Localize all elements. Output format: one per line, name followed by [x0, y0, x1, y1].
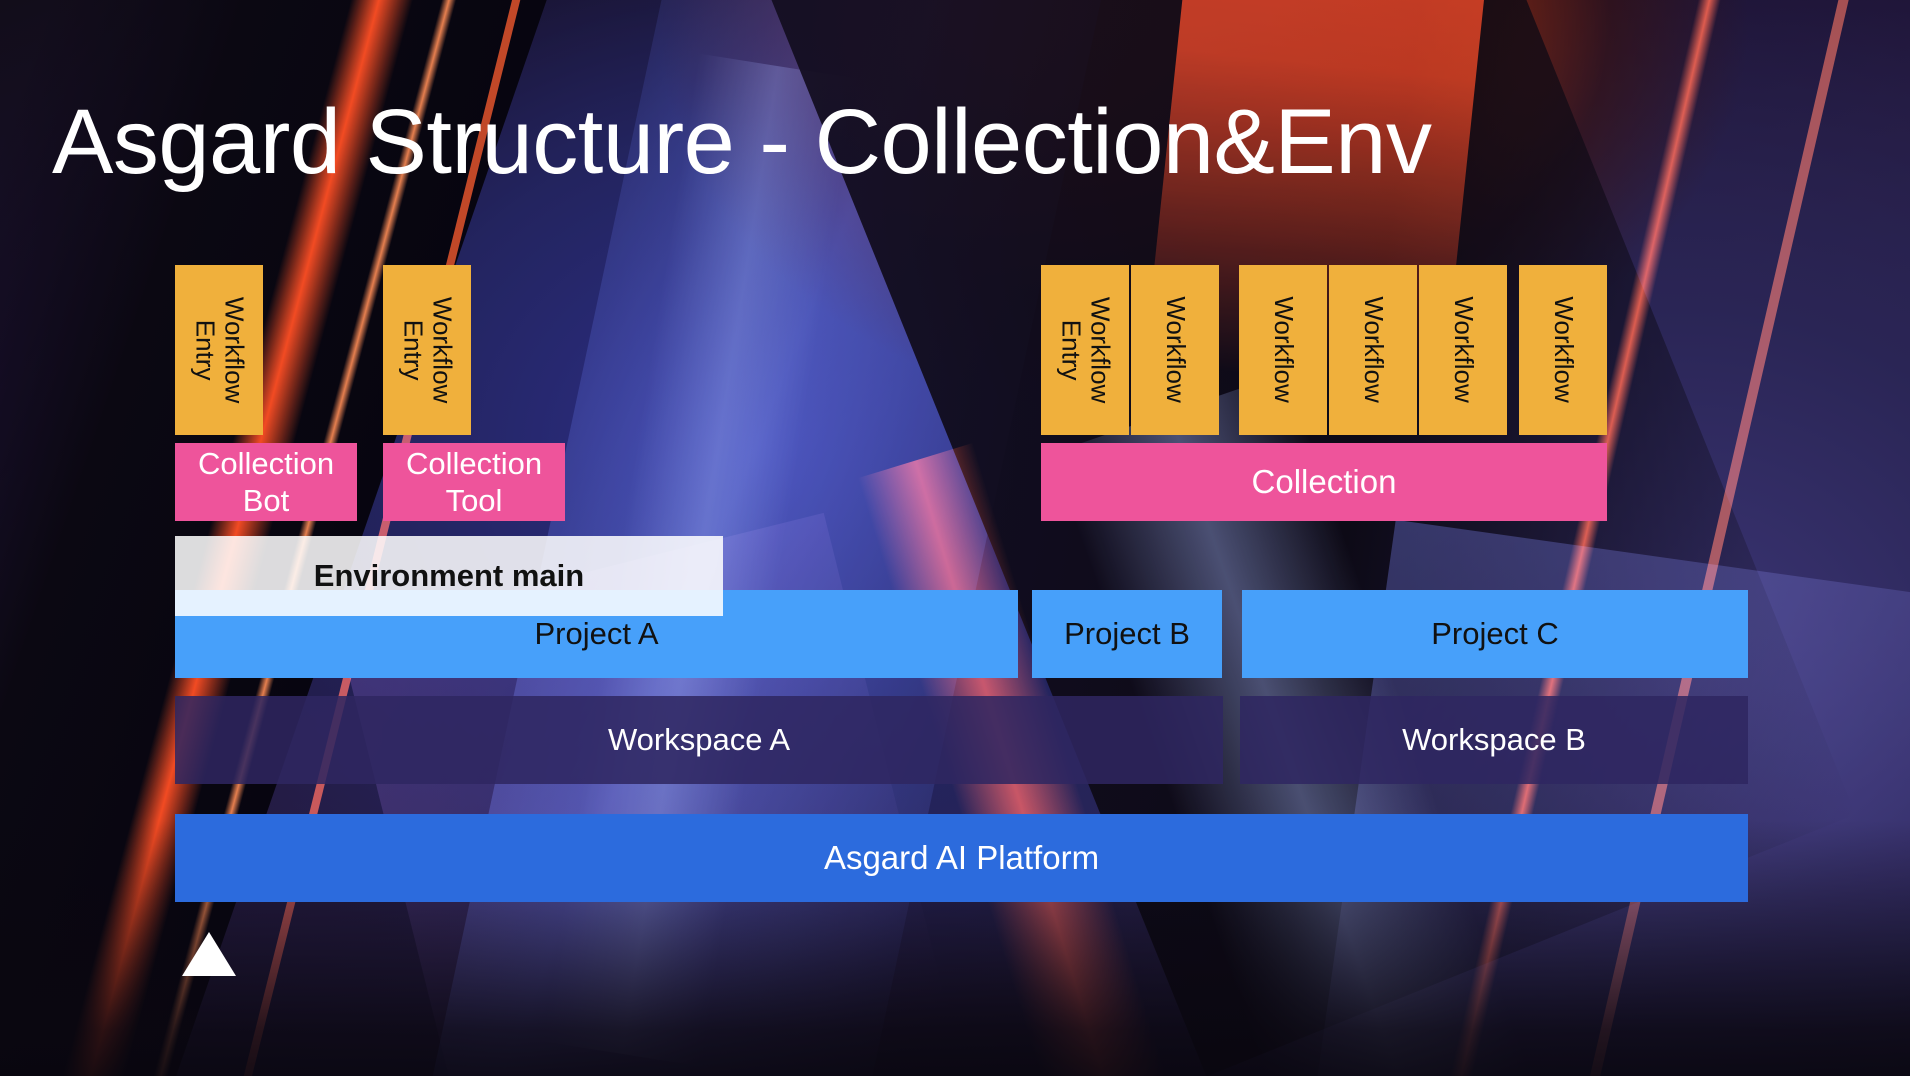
workflow-box-left-0-label: Workflow Entry [190, 297, 248, 403]
workflow-box-left-1-label: Workflow Entry [398, 297, 456, 403]
workflow-box-left-0[interactable]: Workflow Entry [175, 265, 263, 435]
workflow-box-right-0[interactable]: Workflow Entry [1041, 265, 1129, 435]
workflow-box-right-1[interactable]: Workflow [1131, 265, 1219, 435]
workflow-box-right-4-label: Workflow [1448, 297, 1477, 403]
slide-canvas: Asgard Structure - Collection&Env Workfl… [0, 0, 1910, 1076]
collection-box-left-1-label: Collection Tool [383, 445, 565, 519]
workflow-box-right-5-label: Workflow [1548, 297, 1577, 403]
workflow-box-right-4[interactable]: Workflow [1419, 265, 1507, 435]
workflow-box-right-2-label: Workflow [1268, 297, 1297, 403]
project-bar-0-label: Project A [534, 616, 658, 652]
collection-box-left-0[interactable]: Collection Bot [175, 443, 357, 521]
platform-bar-label: Asgard AI Platform [824, 839, 1099, 877]
workflow-box-right-2[interactable]: Workflow [1239, 265, 1327, 435]
workflow-box-right-3-label: Workflow [1358, 297, 1387, 403]
workspace-bar-0[interactable]: Workspace A [175, 696, 1223, 784]
workflow-box-right-3[interactable]: Workflow [1329, 265, 1417, 435]
page-title: Asgard Structure - Collection&Env [52, 96, 1431, 188]
workflow-box-right-0-label: Workflow Entry [1056, 297, 1114, 403]
workflow-box-left-1[interactable]: Workflow Entry [383, 265, 471, 435]
workspace-bar-1[interactable]: Workspace B [1240, 696, 1748, 784]
project-bar-2[interactable]: Project C [1242, 590, 1748, 678]
collection-box-left-1[interactable]: Collection Tool [383, 443, 565, 521]
workspace-bar-0-label: Workspace A [608, 722, 790, 758]
platform-bar[interactable]: Asgard AI Platform [175, 814, 1748, 902]
collection-box-left-0-label: Collection Bot [175, 445, 357, 519]
triangle-up-icon[interactable] [182, 932, 236, 976]
project-bar-1-label: Project B [1064, 616, 1190, 652]
project-bar-2-label: Project C [1431, 616, 1558, 652]
environment-box-label: Environment main [314, 558, 584, 594]
collection-box-right-0-label: Collection [1252, 462, 1397, 502]
workflow-box-right-1-label: Workflow [1160, 297, 1189, 403]
workflow-box-right-5[interactable]: Workflow [1519, 265, 1607, 435]
environment-box[interactable]: Environment main [175, 536, 723, 616]
project-bar-1[interactable]: Project B [1032, 590, 1222, 678]
collection-box-right-0[interactable]: Collection [1041, 443, 1607, 521]
workspace-bar-1-label: Workspace B [1402, 722, 1586, 758]
